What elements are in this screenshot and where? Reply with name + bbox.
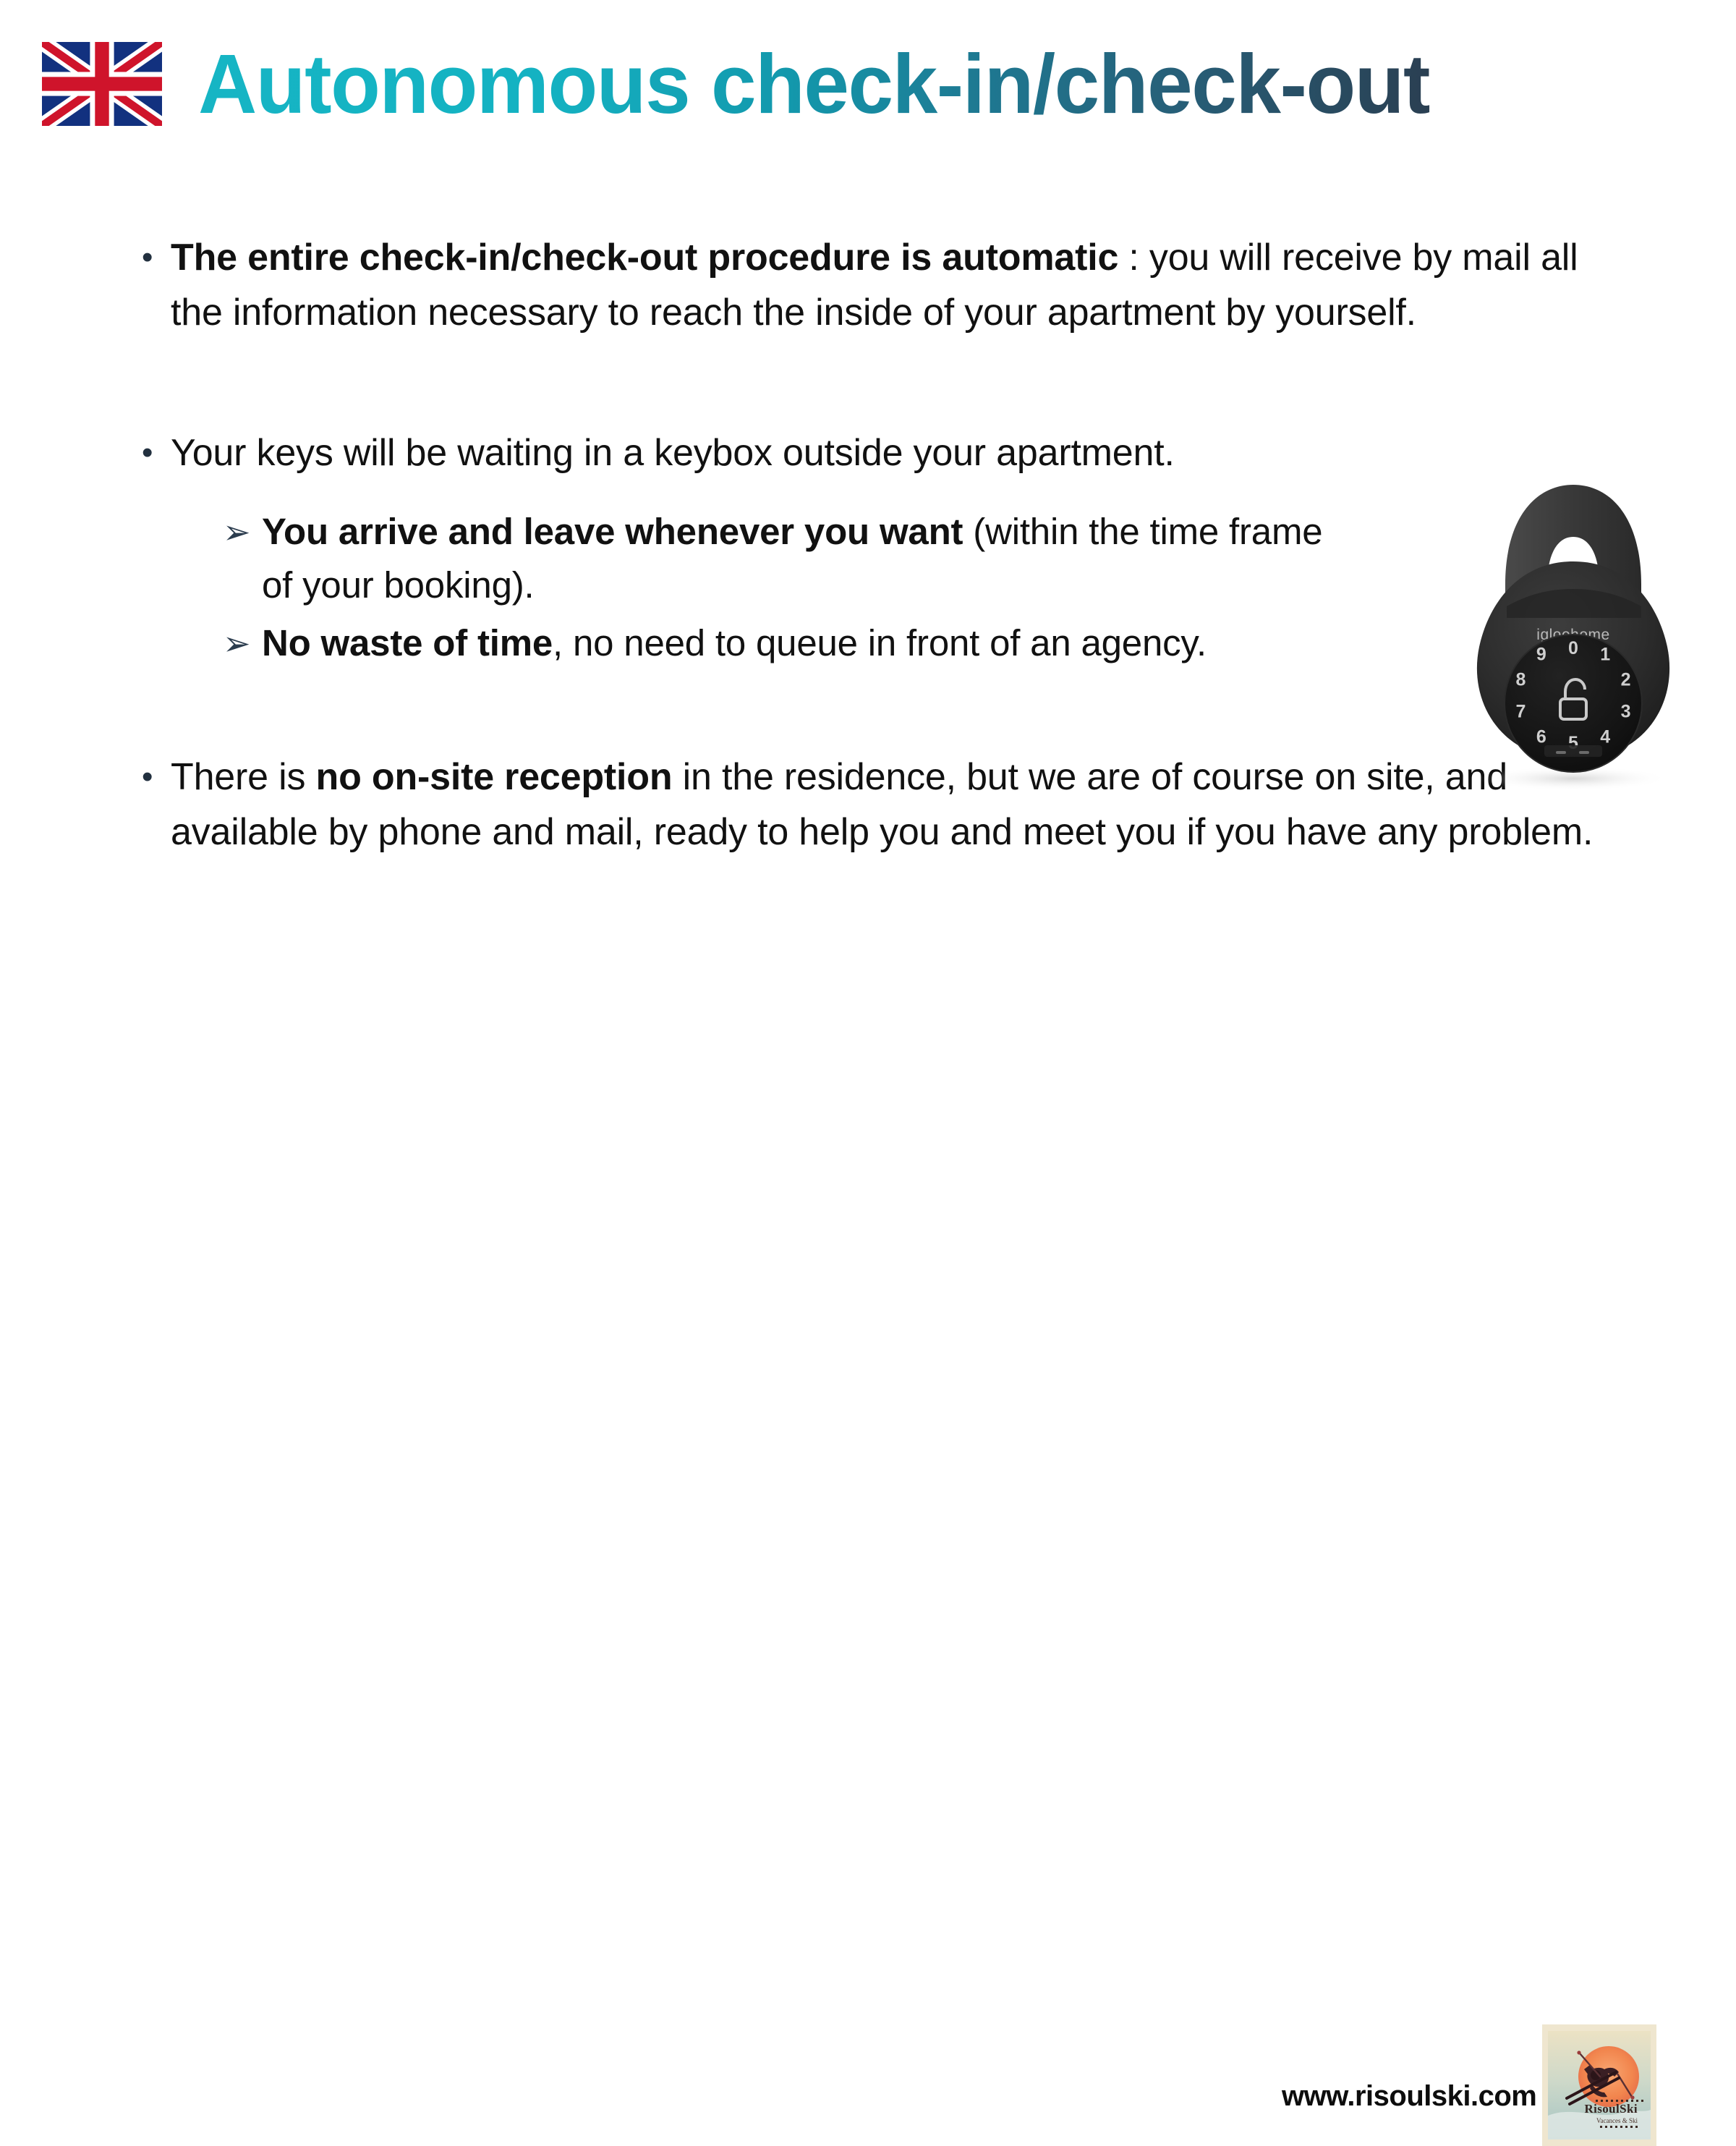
list-item: • Your keys will be waiting in a keybox … [137, 425, 1642, 480]
svg-text:8: 8 [1515, 669, 1526, 690]
igloohome-keybox-image: igloohome 0 1 2 3 4 5 6 7 8 9 [1429, 476, 1718, 794]
arrow-bullet-icon: ➢ [223, 505, 262, 559]
svg-text:1: 1 [1600, 644, 1610, 664]
bullet-block-reception: • There is no on-site reception in the r… [137, 750, 1642, 860]
spacer [137, 674, 1642, 750]
slide-body: • The entire check-in/check-out procedur… [137, 230, 1642, 860]
list-item: • The entire check-in/check-out procedur… [137, 230, 1642, 340]
uk-flag-icon [42, 42, 162, 126]
svg-text:4: 4 [1600, 727, 1610, 747]
bullet-text-reception: There is no on-site reception in the res… [171, 750, 1625, 860]
bullet-lead: There is [171, 756, 316, 798]
bullet-marker-icon: • [137, 750, 171, 805]
bullet-bold-lead: The entire check-in/check-out procedure … [171, 237, 1118, 279]
risoulski-logo: RisoulSki Vacances & Ski [1542, 2024, 1656, 2146]
sub-rest: , no need to queue in front of an agency… [553, 622, 1207, 663]
svg-text:3: 3 [1621, 702, 1631, 722]
bullet-text-keybox: Your keys will be waiting in a keybox ou… [171, 425, 1415, 480]
sub-text-no-waste-time: No waste of time, no need to queue in fr… [262, 616, 1347, 670]
svg-text:9: 9 [1536, 644, 1546, 664]
slide-footer: www.risoulski.com [0, 1013, 1736, 1158]
svg-text:7: 7 [1515, 702, 1526, 722]
svg-text:2: 2 [1621, 669, 1631, 690]
bullet-block-procedure: • The entire check-in/check-out procedur… [137, 230, 1642, 340]
bullet-text-procedure: The entire check-in/check-out procedure … [171, 230, 1610, 340]
bullet-block-keybox: • Your keys will be waiting in a keybox … [137, 425, 1642, 670]
bullet-marker-icon: • [137, 425, 171, 480]
slide-header: Autonomous check-in/check-out [0, 19, 1736, 149]
logo-subtitle: Vacances & Ski [1596, 2117, 1638, 2124]
sub-bold-lead: You arrive and leave whenever you want [262, 511, 963, 552]
spacer [137, 340, 1642, 425]
sub-text-arrive-leave: You arrive and leave whenever you want (… [262, 505, 1347, 612]
svg-text:6: 6 [1536, 727, 1546, 747]
website-url[interactable]: www.risoulski.com [1282, 2080, 1536, 2113]
bullet-marker-icon: • [137, 230, 171, 285]
arrow-bullet-icon: ➢ [223, 616, 262, 670]
page-title: Autonomous check-in/check-out [198, 42, 1429, 126]
bullet-bold-mid: no on-site reception [316, 756, 673, 798]
sub-bold-lead: No waste of time [262, 622, 553, 663]
svg-text:0: 0 [1568, 638, 1578, 658]
logo-title: RisoulSki [1584, 2102, 1638, 2116]
list-item: • There is no on-site reception in the r… [137, 750, 1642, 860]
